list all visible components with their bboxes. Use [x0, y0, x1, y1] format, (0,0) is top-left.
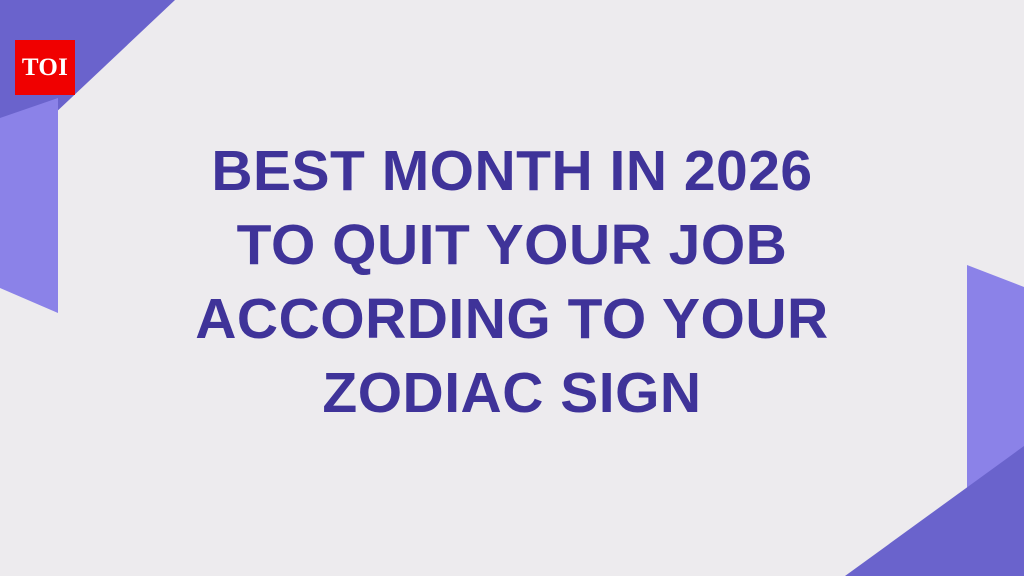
zodiac-headline-card: TOI BEST MONTH IN 2026 TO QUIT YOUR JOB …	[0, 0, 1024, 576]
headline-line-1: BEST MONTH IN 2026	[90, 134, 934, 208]
headline-line-4: ZODIAC SIGN	[90, 356, 934, 430]
toi-logo-text: TOI	[22, 55, 68, 80]
toi-logo[interactable]: TOI	[15, 40, 75, 95]
headline-line-3: ACCORDING TO YOUR	[90, 282, 934, 356]
headline-line-2: TO QUIT YOUR JOB	[90, 208, 934, 282]
page-title: BEST MONTH IN 2026 TO QUIT YOUR JOB ACCO…	[0, 134, 1024, 430]
